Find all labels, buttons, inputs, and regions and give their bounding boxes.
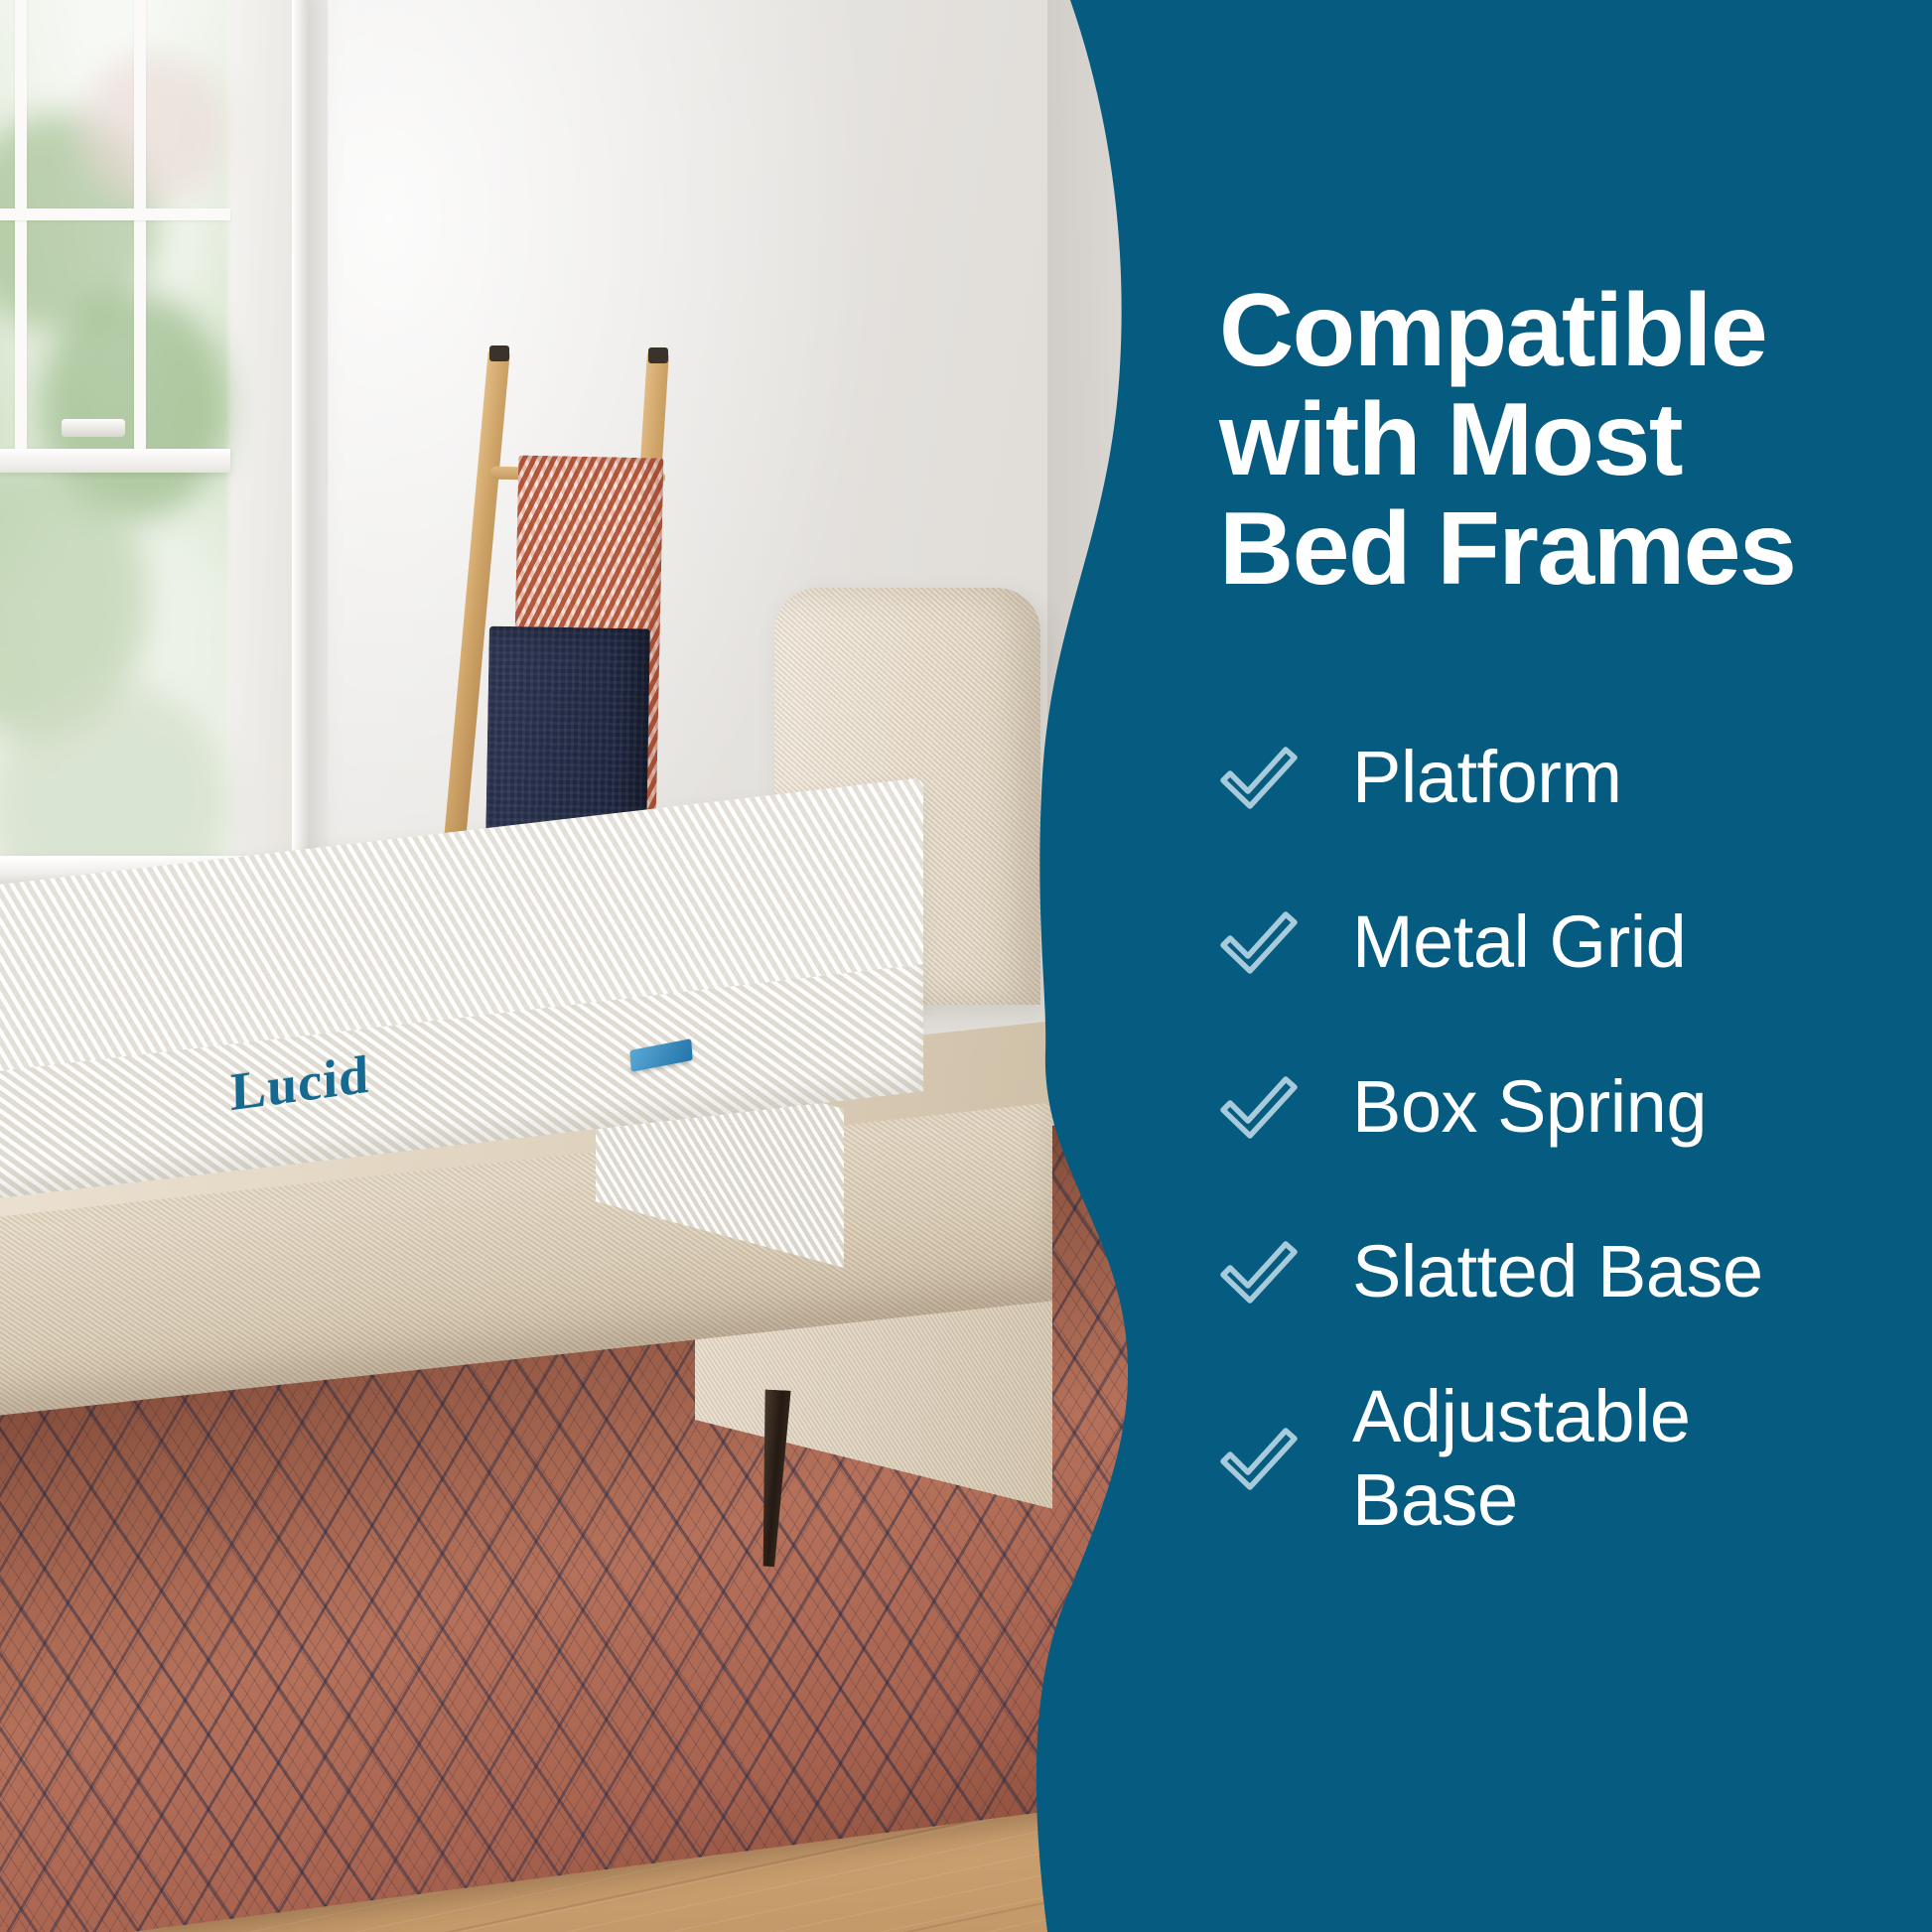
page-title: Compatible with Most Bed Frames bbox=[1219, 276, 1815, 605]
check-icon bbox=[1219, 1422, 1352, 1495]
list-item-label: Adjustable Base bbox=[1352, 1375, 1769, 1543]
check-icon bbox=[1219, 905, 1352, 979]
compatibility-list: Platform Metal Grid Box Spring bbox=[1219, 695, 1855, 1563]
mattress bbox=[0, 894, 923, 1231]
window-mullion bbox=[15, 0, 27, 461]
list-item: Adjustable Base bbox=[1219, 1354, 1855, 1563]
list-item-label: Metal Grid bbox=[1352, 900, 1686, 984]
list-item: Platform bbox=[1219, 695, 1855, 860]
check-icon bbox=[1219, 741, 1352, 814]
window-glass bbox=[0, 0, 228, 972]
window-lock bbox=[62, 419, 125, 437]
list-item-label: Slatted Base bbox=[1352, 1230, 1763, 1313]
window-mullion bbox=[134, 0, 146, 461]
list-item: Slatted Base bbox=[1219, 1189, 1855, 1354]
list-item: Box Spring bbox=[1219, 1025, 1855, 1189]
check-icon bbox=[1219, 1235, 1352, 1309]
panel-content: Compatible with Most Bed Frames Platform… bbox=[1219, 0, 1874, 1932]
list-item-label: Platform bbox=[1352, 736, 1622, 819]
window-sash-rail bbox=[0, 449, 230, 473]
wall-corner-shadow bbox=[1047, 0, 1167, 1191]
product-feature-graphic: Lucid Compatible with Most Bed Frames Pl… bbox=[0, 0, 1932, 1932]
list-item-label: Box Spring bbox=[1352, 1065, 1707, 1149]
list-item: Metal Grid bbox=[1219, 860, 1855, 1025]
check-icon bbox=[1219, 1070, 1352, 1144]
window-mullion bbox=[0, 208, 230, 220]
